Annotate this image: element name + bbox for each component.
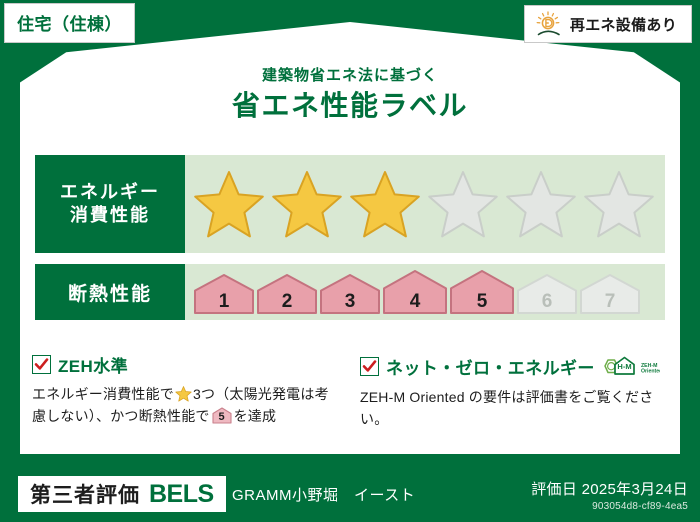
star-rating-strip — [185, 168, 657, 241]
evaluation-date: 評価日 2025年3月24日 — [531, 478, 688, 499]
grade-badge-active: 3 — [319, 273, 381, 315]
star-empty-icon — [425, 168, 501, 241]
inline-grade-value: 5 — [212, 412, 232, 423]
info-zeh-body-part2: を達成 — [234, 408, 277, 424]
metric-label-insulation: 断熱性能 — [35, 264, 185, 320]
building-type-label: 住宅（住棟） — [17, 15, 122, 34]
info-zeh-title: ZEH水準 — [58, 352, 128, 377]
info-column-net-zero: ネット・ゼロ・エネルギー H-M ZEH-M Oriented ZEH-M Or… — [360, 352, 665, 430]
check-icon — [360, 357, 379, 376]
info-net-zero-heading: ネット・ゼロ・エネルギー H-M ZEH-M Oriented — [360, 352, 665, 380]
label-subtitle: 建築物省エネ法に基づく — [0, 64, 700, 85]
sun-renewable-icon — [535, 11, 563, 37]
bels-third-party-badge: 第三者評価 BELS — [18, 476, 226, 512]
star-filled-icon — [347, 168, 423, 241]
grade-badge-active: 4 — [382, 269, 448, 315]
info-zeh-body-part1: エネルギー消費性能で — [32, 386, 174, 402]
metric-row-energy: エネルギー 消費性能 — [35, 155, 665, 253]
building-name: GRAMM小野堀 イースト — [232, 484, 415, 505]
star-filled-icon — [191, 168, 267, 241]
info-column-zeh: ZEH水準 エネルギー消費性能で 3つ（太陽光発電は考慮しない）、かつ断熱性能で… — [32, 352, 342, 427]
grade-badge-value: 6 — [516, 292, 578, 311]
metric-values-insulation: 1234567 — [185, 264, 665, 320]
check-icon — [32, 355, 51, 374]
metric-values-energy — [185, 155, 665, 253]
bels-logo-text: BELS — [149, 480, 214, 509]
info-zeh-heading: ZEH水準 — [32, 352, 342, 377]
metric-label-energy-line2: 消費性能 — [70, 204, 150, 227]
svg-text:Oriented: Oriented — [641, 369, 660, 375]
grade-badge-value: 3 — [319, 292, 381, 311]
energy-performance-label: 住宅（住棟） 再エネ設備あり 建築物省エネ法に基づく 省エネ性能ラベル エネルギ… — [0, 0, 700, 522]
building-type-tag: 住宅（住棟） — [4, 3, 135, 43]
grade-badge-active: 2 — [256, 273, 318, 315]
evaluation-info: 評価日 2025年3月24日 903054d8-cf89-4ea5 — [531, 478, 688, 512]
svg-text:H-M: H-M — [617, 362, 631, 371]
grade-badge-inactive: 7 — [579, 273, 641, 315]
metric-label-insulation-line1: 断熱性能 — [68, 279, 152, 306]
star-empty-icon — [503, 168, 579, 241]
metric-row-insulation: 断熱性能 1234567 — [35, 264, 665, 320]
info-net-zero-body: ZEH-M Oriented の要件は評価書をご覧ください。 — [360, 387, 665, 430]
metric-label-energy: エネルギー 消費性能 — [35, 155, 185, 253]
grade-badge-active: 5 — [449, 269, 515, 315]
metric-label-energy-line1: エネルギー — [60, 181, 160, 204]
reference-id: 903054d8-cf89-4ea5 — [531, 501, 688, 512]
grade-badge-active: 1 — [193, 273, 255, 315]
grade-badge-value: 4 — [382, 292, 448, 311]
inline-star-icon — [175, 386, 192, 402]
zeh-m-oriented-logo: H-M ZEH-M Oriented — [602, 352, 660, 380]
page-title: 省エネ性能ラベル — [0, 84, 700, 124]
info-zeh-body: エネルギー消費性能で 3つ（太陽光発電は考慮しない）、かつ断熱性能で 5 を達成 — [32, 384, 342, 427]
grade-badge-value: 7 — [579, 292, 641, 311]
inline-grade-badge: 5 — [212, 407, 232, 424]
grade-rating-strip: 1234567 — [185, 269, 641, 315]
info-net-zero-title: ネット・ゼロ・エネルギー — [386, 354, 595, 379]
bels-japanese-label: 第三者評価 — [30, 479, 140, 509]
star-empty-icon — [581, 168, 657, 241]
grade-badge-value: 5 — [449, 292, 515, 311]
grade-badge-value: 1 — [193, 292, 255, 311]
renewable-energy-label: 再エネ設備あり — [570, 14, 677, 35]
star-filled-icon — [269, 168, 345, 241]
grade-badge-inactive: 6 — [516, 273, 578, 315]
renewable-energy-badge: 再エネ設備あり — [524, 5, 692, 43]
grade-badge-value: 2 — [256, 292, 318, 311]
